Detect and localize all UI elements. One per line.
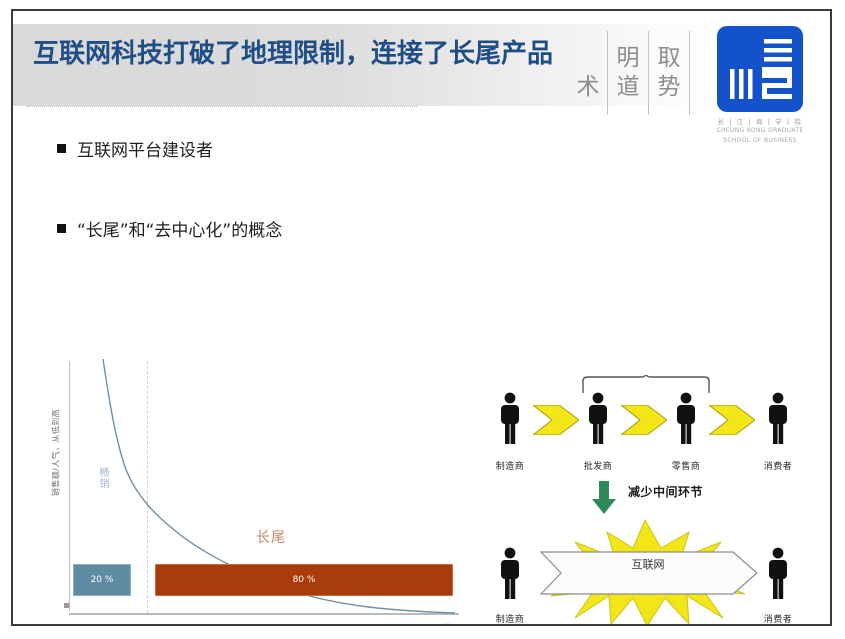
node-label-wholesaler: 批发商 bbox=[575, 459, 621, 472]
bullet-text-1: 互联网平台建设者 bbox=[77, 136, 213, 161]
motto-char-top-2: 明 bbox=[617, 44, 640, 73]
bullet-item-2: “长尾”和“去中心化”的概念 bbox=[57, 216, 282, 241]
motto-char-bottom-3: 势 bbox=[658, 73, 681, 102]
node-label-manufacturer-top: 制造商 bbox=[487, 459, 533, 472]
chart-annotation-head: 畅销 bbox=[95, 467, 110, 489]
motto-column-3: 取 势 bbox=[648, 31, 689, 115]
logo-glyph-icon bbox=[717, 26, 803, 112]
bullet-square-icon bbox=[57, 224, 66, 233]
channel-label-internet: 互联网 bbox=[603, 556, 693, 572]
slide-canvas: 互联网科技打破了地理限制，连接了长尾产品 优 术 明 道 取 势 bbox=[11, 9, 832, 626]
ckgsb-logo-mark-icon bbox=[717, 26, 803, 112]
transition-label: 减少中间环节 bbox=[628, 483, 703, 500]
node-label-consumer-top: 消费者 bbox=[755, 459, 801, 472]
logo-name-cn: 长 | 江 | 商 | 学 | 院 bbox=[710, 118, 810, 126]
motto-columns: 优 术 明 道 取 势 bbox=[569, 31, 730, 115]
person-icon-consumer-bottom bbox=[765, 546, 791, 600]
flow-chevron-icon-3 bbox=[709, 405, 755, 435]
chart-bar-head: 20 % bbox=[73, 564, 131, 596]
person-icon-retailer bbox=[673, 391, 699, 445]
motto-char-top-3: 取 bbox=[658, 44, 681, 73]
logo-name-en-1: CHEUNG KONG GRADUATE bbox=[710, 127, 810, 135]
down-arrow-icon bbox=[591, 481, 617, 515]
internet-burst-graphic bbox=[475, 518, 815, 626]
internet-channel-row: 互联网 制造商 消费者 bbox=[475, 518, 815, 626]
node-label-retailer: 零售商 bbox=[663, 459, 709, 472]
chart-bar-tail: 80 % bbox=[155, 564, 453, 596]
logo-name-en-2: SCHOOL OF BUSINESS bbox=[710, 137, 810, 145]
motto-column-2: 明 道 bbox=[607, 31, 648, 115]
person-icon-wholesaler bbox=[585, 391, 611, 445]
node-label-manufacturer-bottom: 制造商 bbox=[487, 612, 533, 625]
person-icon-manufacturer-bottom bbox=[497, 546, 523, 600]
traditional-channel-row bbox=[475, 391, 815, 455]
motto-char-bottom-1: 术 bbox=[577, 73, 600, 102]
person-icon-consumer bbox=[765, 391, 791, 445]
long-tail-chart: 销售额/人气，从低到高 畅销 长尾 20 % 80 % ▾▾ bbox=[43, 359, 463, 626]
flow-chevron-icon-1 bbox=[533, 405, 579, 435]
ckgsb-logo: 长 | 江 | 商 | 学 | 院 CHEUNG KONG GRADUATE S… bbox=[710, 26, 810, 145]
chart-annotation-tail: 长尾 bbox=[256, 527, 286, 547]
disintermediation-diagram: 制造商 批发商 零售商 消费者 减少中间环节 互联网 bbox=[475, 383, 815, 626]
motto-column-1: 优 术 bbox=[569, 31, 607, 115]
chart-corner-marker-icon: ▾▾ bbox=[443, 621, 451, 626]
page-title: 互联网科技打破了地理限制，连接了长尾产品 bbox=[33, 33, 553, 70]
person-icon-manufacturer bbox=[497, 391, 523, 445]
node-label-consumer-bottom: 消费者 bbox=[755, 612, 801, 625]
motto-char-bottom-2: 道 bbox=[617, 73, 640, 102]
bullet-text-2: “长尾”和“去中心化”的概念 bbox=[77, 216, 282, 241]
bullet-item-1: 互联网平台建设者 bbox=[57, 136, 213, 161]
bullet-square-icon bbox=[57, 144, 66, 153]
title-underline bbox=[27, 106, 417, 108]
flow-chevron-icon-2 bbox=[621, 405, 667, 435]
